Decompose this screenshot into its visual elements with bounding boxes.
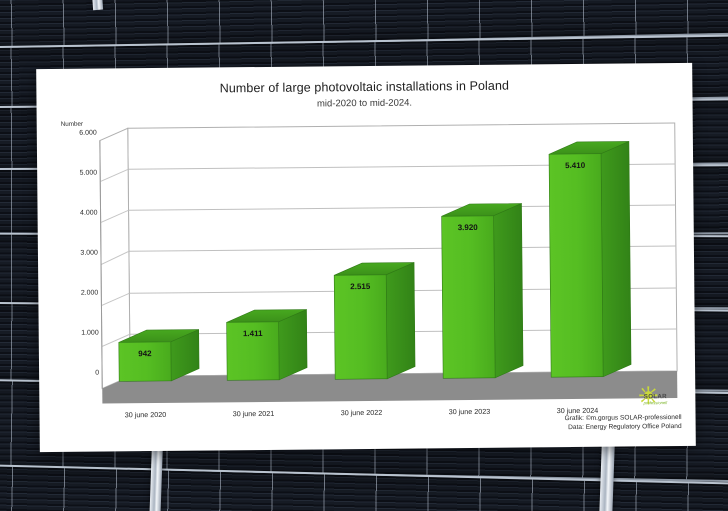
x-tick-label-2: 30 june 2021 [208,409,298,419]
screenshot-root: Number of large photovoltaic installatio… [0,0,728,511]
bar-value-label-1: 942 [110,349,180,359]
credits-block: Grafik: ©m.gorgus SOLAR-professionell Da… [565,413,682,433]
bar-column-2 [227,310,308,381]
bar-column-3 [334,263,415,380]
logo-tagline: professionell [631,400,679,405]
bar-column-5 [549,141,631,377]
chart-subtitle: mid-2020 to mid-2024. [36,95,692,112]
bar-value-label-3: 2.515 [325,282,395,292]
chart-card: Number of large photovoltaic installatio… [36,63,696,452]
chart-3d-scene [55,115,678,406]
x-tick-label-4: 30 june 2023 [424,407,514,417]
plot-area: Number 6.000 5.000 4.000 3.000 2.000 1.0… [55,115,678,406]
bar-value-label-4: 3.920 [433,223,503,233]
x-tick-label-3: 30 june 2022 [316,408,406,418]
chart-title: Number of large photovoltaic installatio… [36,77,692,97]
solar-professionell-logo: SOLAR professionell [631,386,679,410]
bar-value-label-2: 1.411 [218,329,288,339]
credit-data-source: Data: Energy Regulatory Office Poland [565,422,682,433]
x-tick-label-1: 30 june 2020 [100,410,190,420]
bar-value-label-5: 5.410 [540,161,610,171]
